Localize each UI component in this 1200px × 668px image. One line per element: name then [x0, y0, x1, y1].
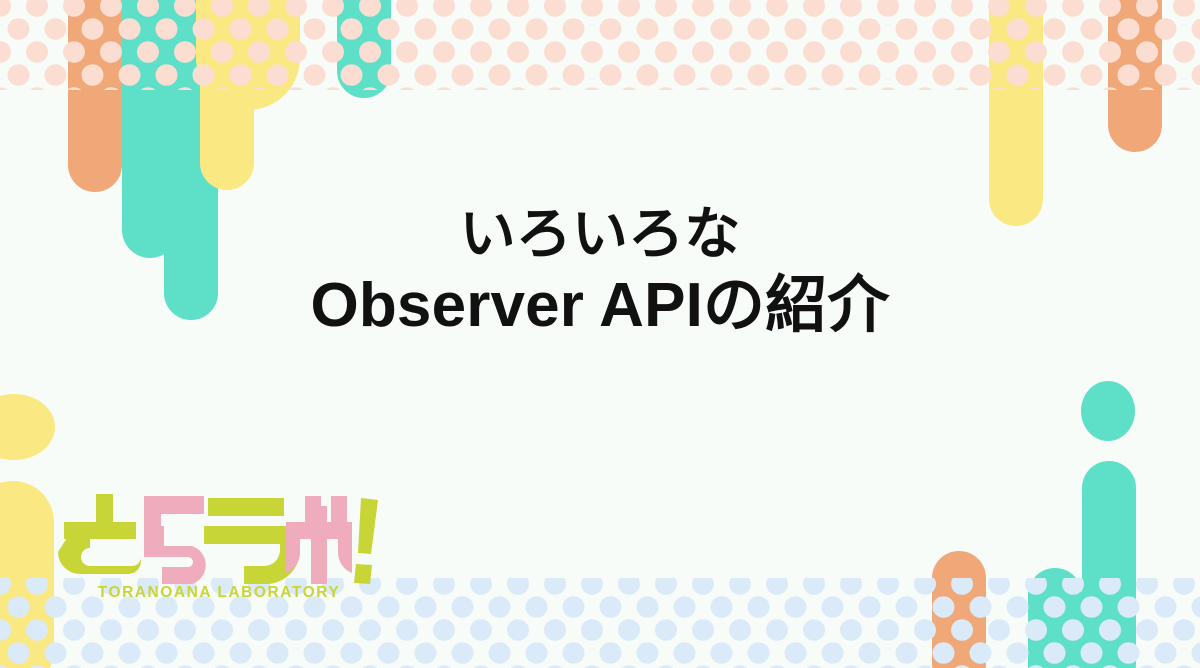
logo-subtitle: TORANOANA LABORATORY [64, 584, 374, 602]
title-line-2: Observer APIの紹介 [0, 268, 1200, 344]
logo-char-ra2 [204, 498, 300, 584]
logo-wordmark-toraboo [58, 492, 378, 584]
circle-teal-bottom-right [1081, 381, 1135, 441]
bar-yellow-top-narrow [200, 0, 254, 190]
bar-orange-top-right [1108, 0, 1162, 152]
bar-teal-bottom-tall [1082, 461, 1136, 668]
logo-char-to [58, 494, 141, 574]
title-line-1: いろいろな [0, 200, 1200, 268]
logo-char-exclamation [354, 498, 378, 584]
bar-teal-top-mid [337, 0, 391, 98]
bar-teal-bottom-short [1028, 568, 1082, 668]
bar-yellow-bottom-left [0, 481, 54, 668]
bar-orange-bottom [932, 551, 986, 668]
toranoana-laboratory-logo: TORANOANA LABORATORY [58, 492, 388, 614]
presentation-slide: いろいろな Observer APIの紹介 [0, 0, 1200, 668]
bar-orange-top-left [68, 0, 122, 192]
bar-yellow-top-right [989, 0, 1043, 226]
circle-yellow-bottom-left [0, 394, 55, 460]
slide-title: いろいろな Observer APIの紹介 [0, 200, 1200, 344]
logo-char-ra [144, 496, 206, 584]
logo-char-bo [286, 496, 352, 584]
